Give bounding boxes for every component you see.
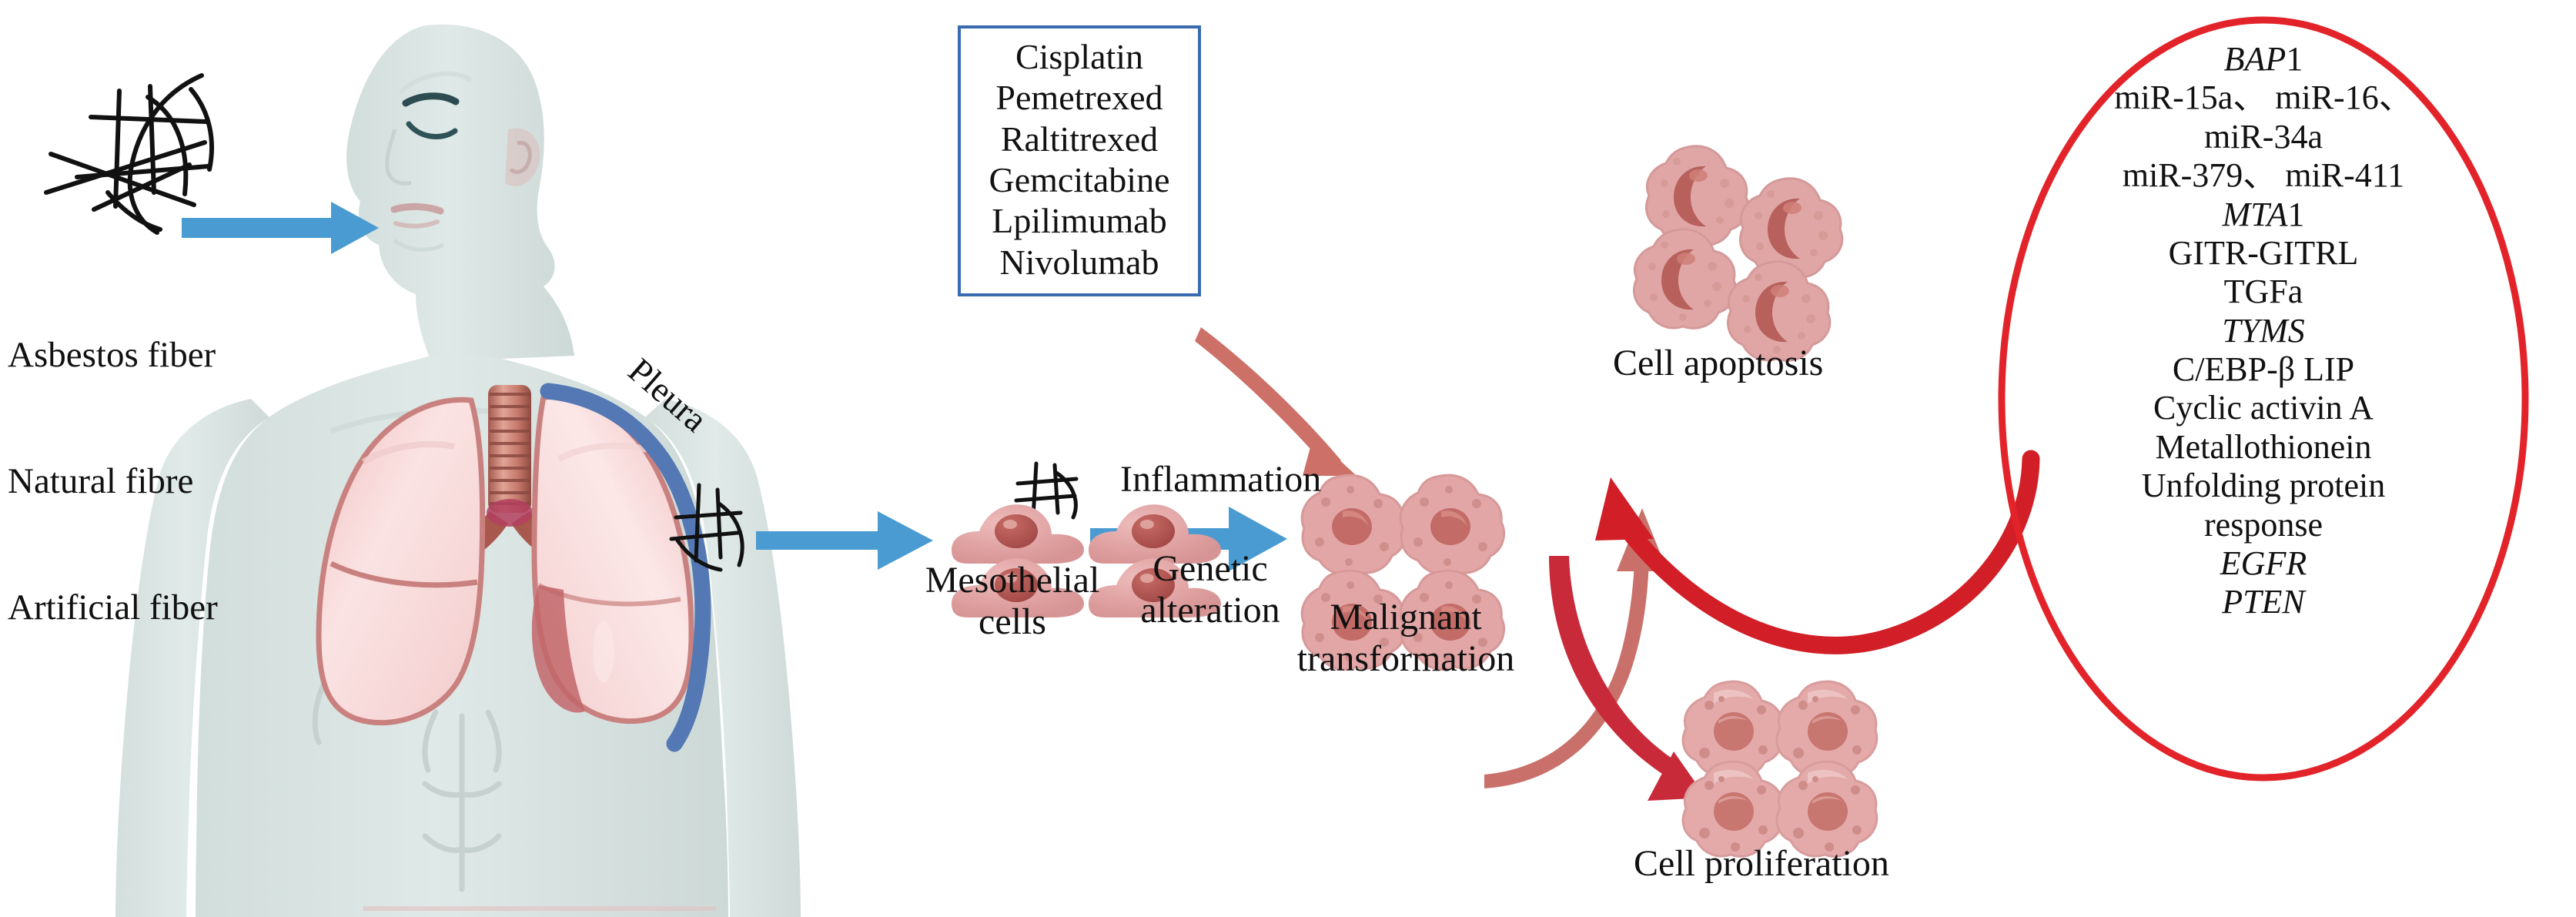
molecular-targets-list: BAP1miR-15a、 miR-16、miR-34amiR-379、 miR-… [2021,40,2506,622]
molecular-target-line: BAP1 [2021,40,2506,79]
molecular-target-line: C/EBP-β LIP [2021,350,2506,389]
molecular-target-gene-number: 1 [2287,196,2304,233]
source-label-artificial: Artificial fiber [8,587,262,628]
molecular-target-text: PTEN [2222,583,2305,621]
molecular-target-line: miR-379、 miR-411 [2021,156,2506,195]
molecular-target-gene-number: 1 [2286,40,2303,78]
molecular-target-line: MTA1 [2021,196,2506,234]
drug-item-cisplatin: Cisplatin [965,36,1193,77]
genetic-alteration-label: Genetic alteration [1110,548,1310,631]
drug-item-lpilimumab: Lpilimumab [965,200,1193,241]
source-label-natural: Natural fibre [8,461,262,502]
drug-box: Cisplatin Pemetrexed Raltitrexed Gemcita… [958,25,1201,296]
inhalation-arrow [182,202,379,254]
molecular-target-gene-symbol: BAP [2224,40,2287,78]
drug-item-raltitrexed: Raltitrexed [965,119,1193,159]
molecular-target-line: PTEN [2021,583,2506,621]
source-label-asbestos: Asbestos fiber [8,335,262,376]
molecular-target-line: Cyclic activin A [2021,389,2506,427]
therapy-arrow [1195,327,1357,476]
molecular-target-line: miR-34a [2021,118,2506,156]
molecular-target-line: EGFR [2021,544,2506,583]
drug-item-gemcitabine: Gemcitabine [965,159,1193,200]
molecular-target-text: TYMS [2222,312,2305,350]
mesothelial-cells-label: Mesothelial cells [916,560,1109,643]
molecular-target-gene-symbol: MTA [2223,196,2288,233]
apoptotic-cell-cluster-icon [1634,146,1842,360]
inflammation-label: Inflammation [1120,459,1321,500]
molecular-target-line: Unfolding protein [2021,467,2506,505]
proliferating-cell-cluster-icon [1683,681,1877,856]
molecular-target-line: miR-15a、 miR-16、 [2021,79,2506,117]
lung-to-mesothelium-arrow [756,511,933,570]
source-labels: Asbestos fiber Natural fibre Artificial … [8,254,262,673]
molecular-target-line: Metallothionein [2021,428,2506,467]
asbestos-fiber-tangle-icon [46,75,212,233]
cell-proliferation-label: Cell proliferation [1634,843,1889,885]
molecular-target-line: TYMS [2021,312,2506,350]
molecular-target-line: response [2021,506,2506,544]
molecular-target-line: GITR-GITRL [2021,234,2506,273]
molecular-target-line: TGFa [2021,273,2506,311]
drug-item-nivolumab: Nivolumab [965,242,1193,283]
malignant-transformation-label: Malignant transformation [1290,597,1521,680]
drug-item-pemetrexed: Pemetrexed [965,77,1193,118]
molecular-target-text: EGFR [2220,544,2307,582]
cell-apoptosis-label: Cell apoptosis [1613,343,1823,384]
inhibition-arrow [1595,459,2031,645]
